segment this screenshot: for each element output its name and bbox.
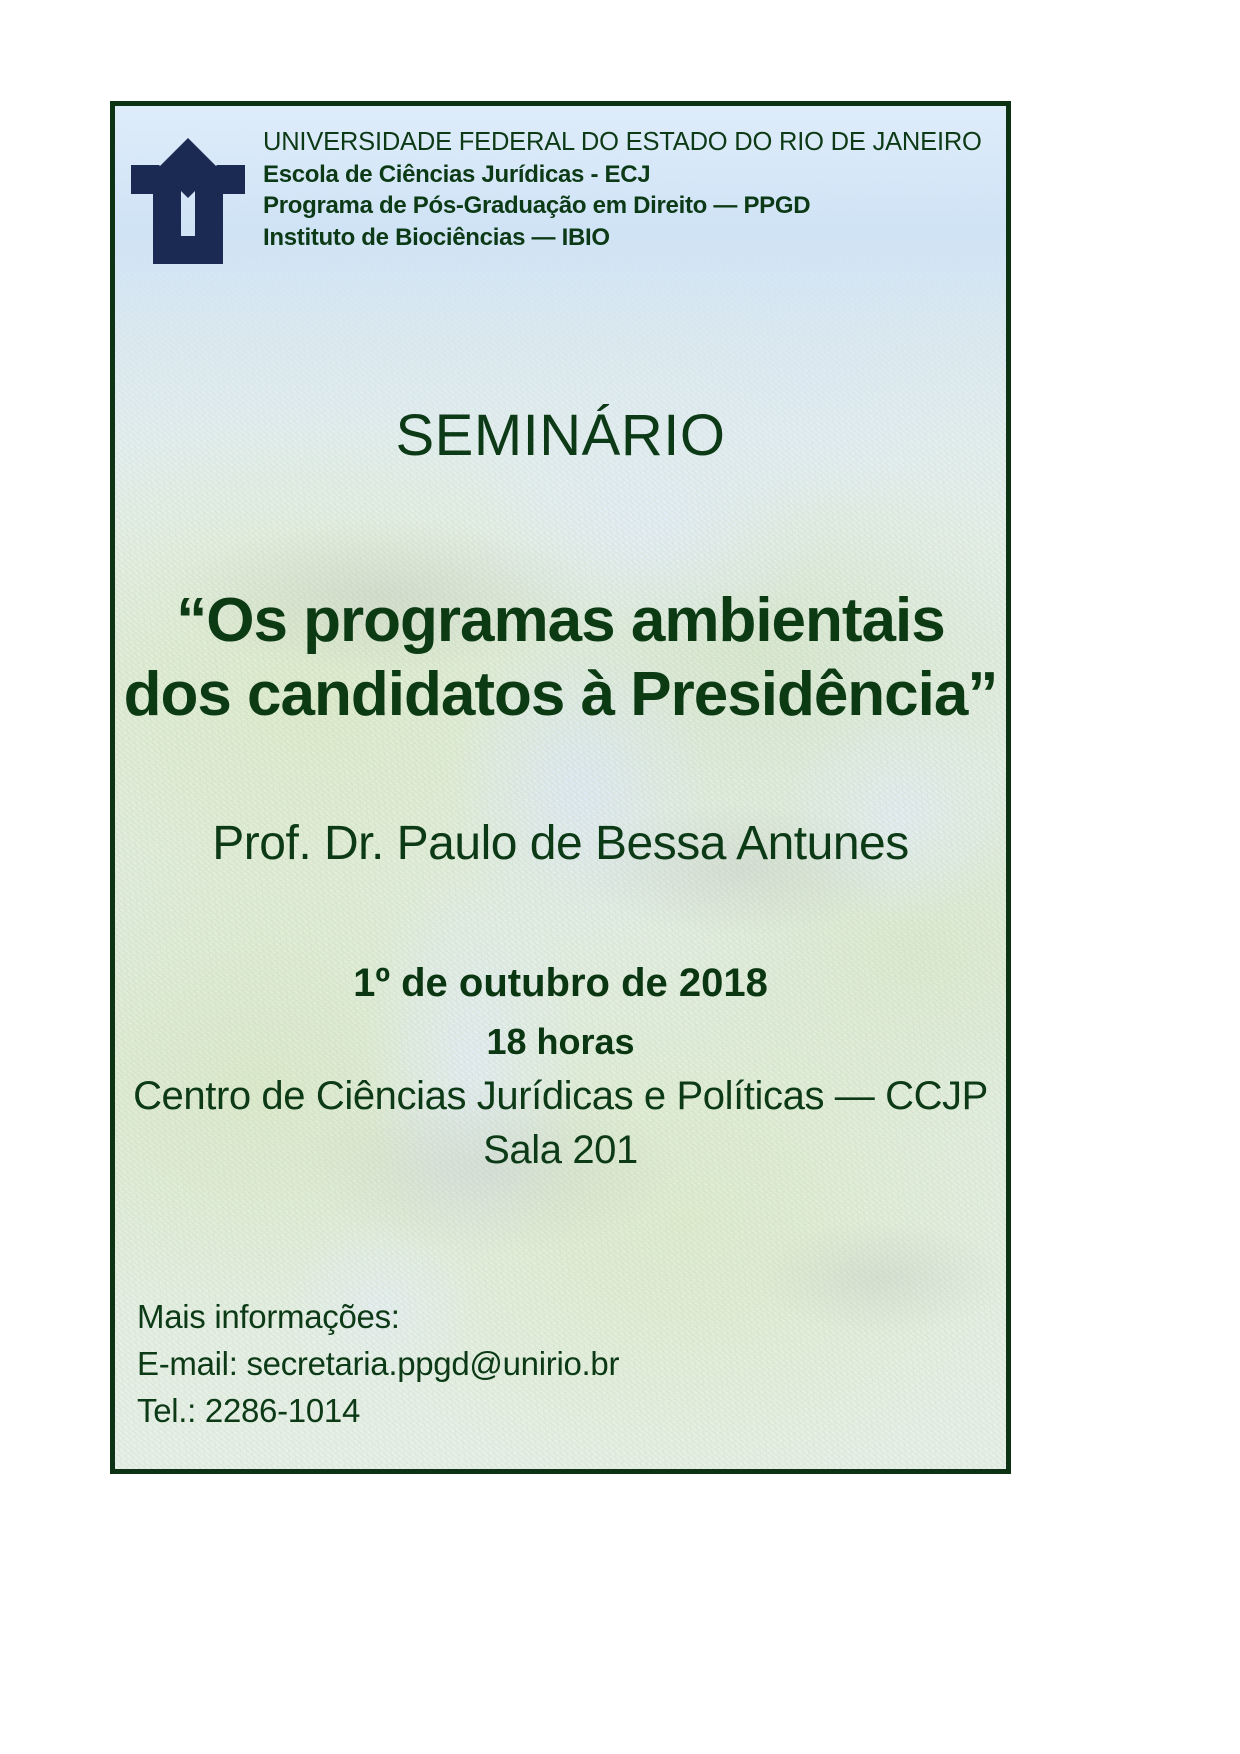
- event-title-line-2: dos candidatos à Presidência”: [121, 658, 1000, 732]
- poster: UNIVERSIDADE FEDERAL DO ESTADO DO RIO DE…: [110, 101, 1011, 1474]
- event-kind-heading: SEMINÁRIO: [115, 402, 1006, 469]
- unirio-logo: [129, 132, 247, 264]
- event-time: 18 horas: [115, 1021, 1006, 1063]
- contact-email: E-mail: secretaria.ppgd@unirio.br: [137, 1341, 619, 1388]
- header-university-name: UNIVERSIDADE FEDERAL DO ESTADO DO RIO DE…: [263, 126, 982, 159]
- event-venue: Centro de Ciências Jurídicas e Políticas…: [115, 1074, 1006, 1119]
- event-room: Sala 201: [115, 1128, 1006, 1173]
- header-school-name: Escola de Ciências Jurídicas - ECJ: [263, 159, 982, 190]
- event-title-line-1: “Os programas ambientais: [121, 584, 1000, 658]
- header-text-block: UNIVERSIDADE FEDERAL DO ESTADO DO RIO DE…: [263, 124, 982, 253]
- contact-phone: Tel.: 2286-1014: [137, 1388, 619, 1435]
- poster-content: UNIVERSIDADE FEDERAL DO ESTADO DO RIO DE…: [115, 106, 1006, 1469]
- contact-block: Mais informações: E-mail: secretaria.ppg…: [137, 1294, 619, 1435]
- header-institute-name: Instituto de Biociências — IBIO: [263, 222, 982, 253]
- header: UNIVERSIDADE FEDERAL DO ESTADO DO RIO DE…: [129, 124, 996, 264]
- event-title: “Os programas ambientais dos candidatos …: [121, 584, 1000, 733]
- header-program-name: Programa de Pós-Graduação em Direito — P…: [263, 190, 982, 221]
- event-date: 1º de outubro de 2018: [115, 961, 1006, 1006]
- event-speaker: Prof. Dr. Paulo de Bessa Antunes: [115, 816, 1006, 871]
- contact-heading: Mais informações:: [137, 1294, 619, 1341]
